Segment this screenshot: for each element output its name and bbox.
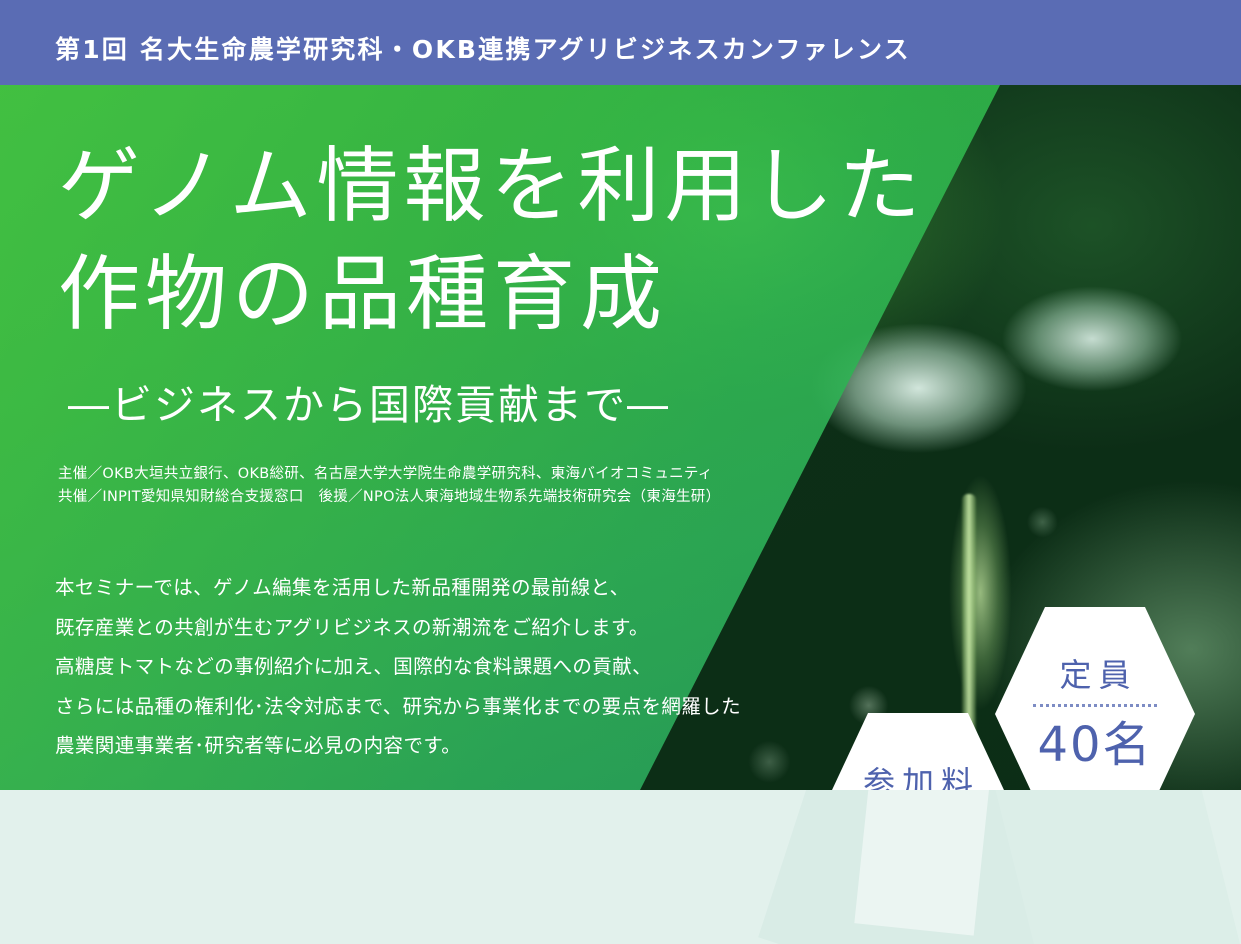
- decorative-shape-2: [993, 790, 1241, 944]
- fee-badge-label: 参加料: [856, 767, 980, 790]
- decorative-shapes: [721, 790, 1241, 944]
- lead-line-4: さらには品種の権利化･法令対応まで、研究から事業化までの要点を網羅した: [55, 687, 741, 727]
- header-band: 第1回 名大生命農学研究科・OKB連携アグリビジネスカンファレンス: [0, 0, 1241, 85]
- title-line-2: 作物の品種育成: [58, 241, 926, 349]
- organizer-block: 主催／OKB大垣共立銀行、OKB総研、名古屋大学大学院生命農学研究科、東海バイオ…: [58, 463, 720, 510]
- lead-line-1: 本セミナーでは、ゲノム編集を活用した新品種開発の最前線と、: [55, 568, 741, 608]
- lead-line-3: 高糖度トマトなどの事例紹介に加え、国際的な食料課題への貢献、: [55, 647, 741, 687]
- header-title: 第1回 名大生命農学研究科・OKB連携アグリビジネスカンファレンス: [55, 30, 911, 66]
- info-bar: 日時 2026年2月6日(金) 15:00~18:00 会場 Tokai Ope…: [0, 790, 1241, 944]
- capacity-badge-divider: [1033, 704, 1157, 707]
- organizer-line-1: 主催／OKB大垣共立銀行、OKB総研、名古屋大学大学院生命農学研究科、東海バイオ…: [58, 463, 720, 486]
- title-block: ゲノム情報を利用した 作物の品種育成 ―ビジネスから国際貢献まで―: [58, 133, 926, 431]
- lead-line-5: 農業関連事業者･研究者等に必見の内容です。: [55, 726, 741, 766]
- capacity-badge-label: 定員: [1052, 659, 1137, 691]
- poster-root: 第1回 名大生命農学研究科・OKB連携アグリビジネスカンファレンス ゲノム情報を…: [0, 0, 1241, 944]
- title-line-1: ゲノム情報を利用した: [58, 133, 926, 241]
- subtitle: ―ビジネスから国際貢献まで―: [68, 371, 926, 431]
- hero-section: ゲノム情報を利用した 作物の品種育成 ―ビジネスから国際貢献まで― 主催／OKB…: [0, 85, 1241, 790]
- organizer-line-2: 共催／INPIT愛知県知財総合支援窓口 後援／NPO法人東海地域生物系先端技術研…: [58, 486, 720, 509]
- lead-paragraph: 本セミナーでは、ゲノム編集を活用した新品種開発の最前線と、 既存産業との共創が生…: [55, 568, 741, 766]
- capacity-badge-value: 40名: [1037, 721, 1152, 769]
- lead-line-2: 既存産業との共創が生むアグリビジネスの新潮流をご紹介します。: [55, 608, 741, 648]
